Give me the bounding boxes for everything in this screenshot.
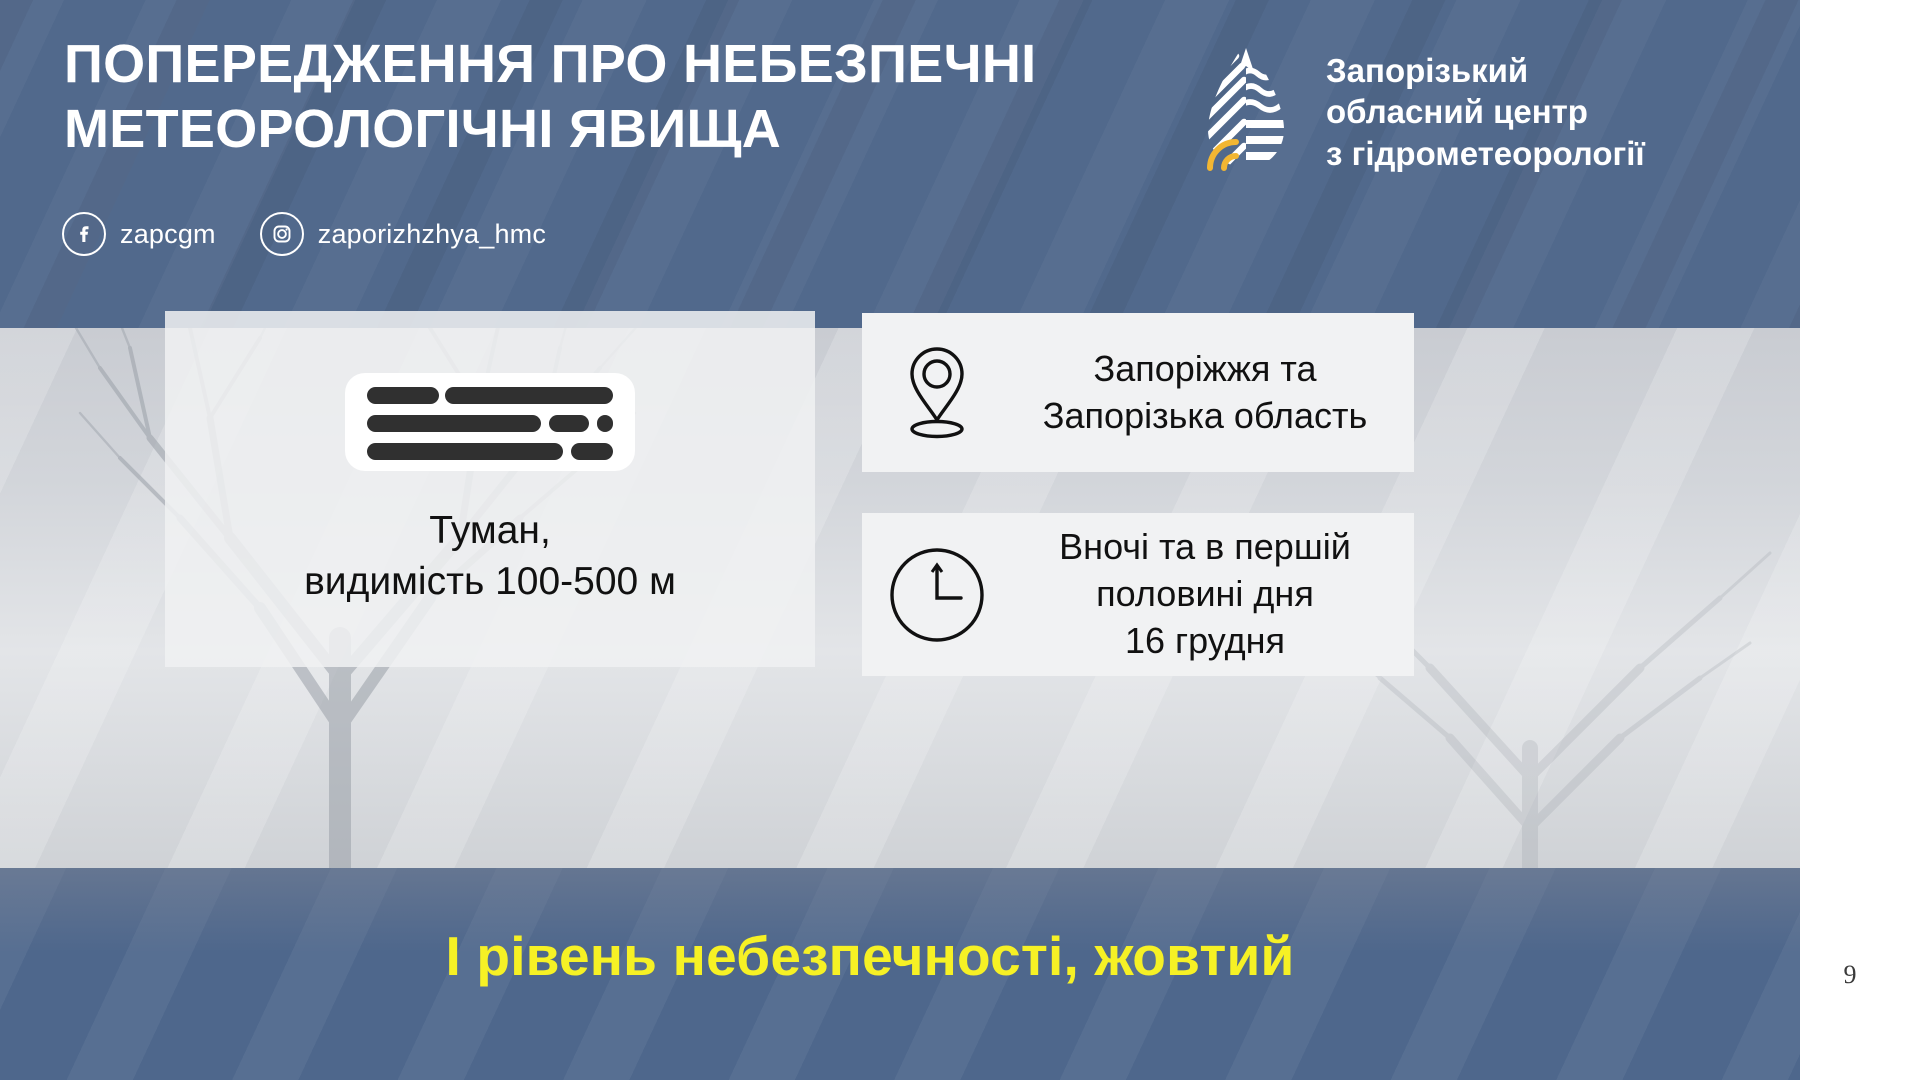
phenomenon-card: Туман, видимість 100-500 м	[165, 311, 815, 667]
social-instagram[interactable]: zaporizhzhya_hmc	[260, 212, 546, 256]
social-instagram-label: zaporizhzhya_hmc	[318, 219, 546, 250]
page-title: ПОПЕРЕДЖЕННЯ ПРО НЕБЕЗПЕЧНІ МЕТЕОРОЛОГІЧ…	[64, 32, 1074, 162]
time-text-line-2: половині дня	[1059, 571, 1351, 618]
location-card-body: Запоріжжя та Запорізька область	[1020, 346, 1414, 440]
phenomenon-text-line-2: видимість 100-500 м	[304, 556, 676, 607]
water-droplet-logo-icon	[1190, 38, 1302, 186]
time-text-line-1: Вночі та в першій	[1059, 524, 1351, 571]
instagram-icon	[260, 212, 304, 256]
organization-logo: Запорізький обласний центр з гідрометеор…	[1190, 38, 1645, 186]
header-banner: ПОПЕРЕДЖЕННЯ ПРО НЕБЕЗПЕЧНІ МЕТЕОРОЛОГІЧ…	[0, 0, 1800, 328]
organization-logo-text: Запорізький обласний центр з гідрометеор…	[1326, 50, 1645, 175]
page-title-line-2: МЕТЕОРОЛОГІЧНІ ЯВИЩА	[64, 97, 1074, 162]
location-text: Запоріжжя та Запорізька область	[1043, 346, 1367, 440]
social-links: zapcgm zaporizhzhya_hmc	[62, 212, 546, 256]
footer-banner: І рівень небезпечності, жовтий	[0, 868, 1800, 1080]
clock-icon	[862, 543, 1012, 647]
time-card: Вночі та в першій половині дня 16 грудня	[862, 513, 1414, 676]
logo-text-line-3: з гідрометеорології	[1326, 133, 1645, 175]
location-text-line-1: Запоріжжя та	[1043, 346, 1367, 393]
logo-text-line-2: обласний центр	[1326, 91, 1645, 133]
social-facebook[interactable]: zapcgm	[62, 212, 216, 256]
fog-icon	[345, 373, 635, 471]
phenomenon-text: Туман, видимість 100-500 м	[304, 505, 676, 608]
time-card-body: Вночі та в першій половині дня 16 грудня	[1020, 524, 1414, 664]
page-title-line-1: ПОПЕРЕДЖЕННЯ ПРО НЕБЕЗПЕЧНІ	[64, 32, 1074, 97]
logo-text-line-1: Запорізький	[1326, 50, 1645, 92]
facebook-icon	[62, 212, 106, 256]
page-number: 9	[1820, 960, 1880, 990]
danger-level-text: І рівень небезпечності, жовтий	[0, 924, 1740, 988]
right-gutter	[1800, 0, 1920, 1080]
slide: ПОПЕРЕДЖЕННЯ ПРО НЕБЕЗПЕЧНІ МЕТЕОРОЛОГІЧ…	[0, 0, 1920, 1080]
social-facebook-label: zapcgm	[120, 219, 216, 250]
time-text: Вночі та в першій половині дня 16 грудня	[1059, 524, 1351, 664]
phenomenon-text-line-1: Туман,	[304, 505, 676, 556]
location-card: Запоріжжя та Запорізька область	[862, 313, 1414, 472]
map-pin-icon	[862, 341, 1012, 445]
time-text-line-3: 16 грудня	[1059, 618, 1351, 665]
location-text-line-2: Запорізька область	[1043, 393, 1367, 440]
slide-canvas: ПОПЕРЕДЖЕННЯ ПРО НЕБЕЗПЕЧНІ МЕТЕОРОЛОГІЧ…	[0, 0, 1800, 1080]
